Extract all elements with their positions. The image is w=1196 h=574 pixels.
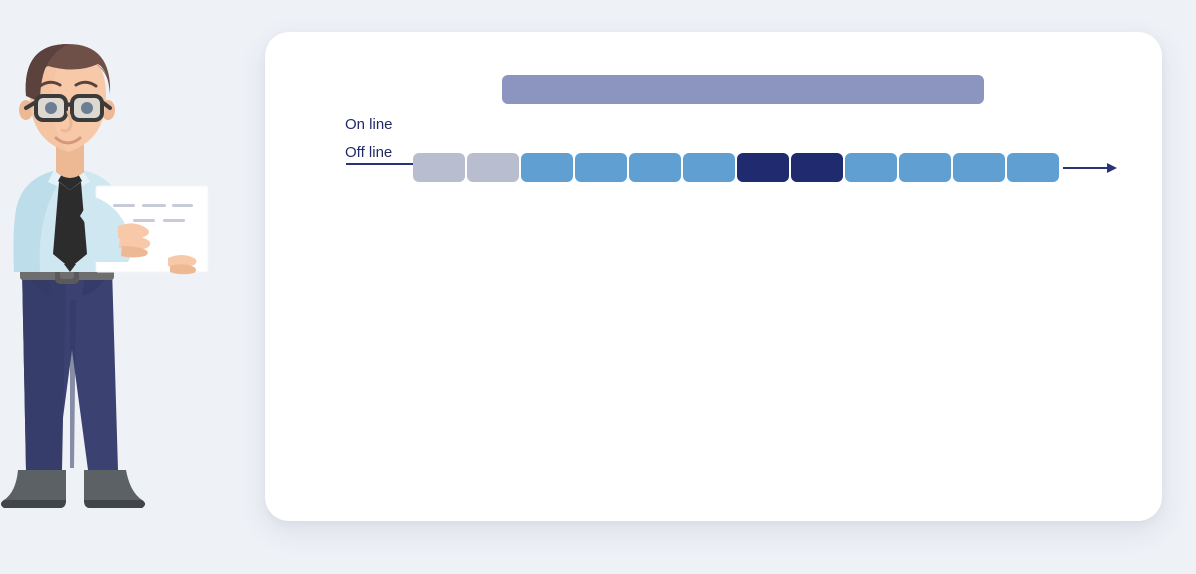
timeline-axis-divider (346, 163, 414, 165)
off-line-label: Off line (345, 145, 392, 160)
character-shoes (1, 470, 145, 508)
character-shirt (14, 166, 127, 272)
timeline-block-offline[interactable] (737, 153, 789, 182)
timeline-block-online[interactable] (575, 153, 627, 182)
character-left-arm (14, 200, 42, 266)
held-paper (96, 186, 208, 272)
timeline-block-idle[interactable] (413, 153, 465, 182)
glasses-icon (26, 96, 110, 120)
timeline-block-online[interactable] (629, 153, 681, 182)
timeline-axis-labels: On line Off line (341, 117, 409, 169)
title-placeholder-bar (502, 75, 984, 104)
timeline-block-offline[interactable] (791, 153, 843, 182)
timeline-block-online[interactable] (953, 153, 1005, 182)
content-card: On line Off line (265, 32, 1162, 521)
timeline-block-online[interactable] (899, 153, 951, 182)
timeline-block-online[interactable] (1007, 153, 1059, 182)
timeline-arrow (1063, 161, 1119, 175)
online-offline-timeline: On line Off line (341, 117, 1151, 177)
timeline-block-row (413, 153, 1059, 182)
character-right-arm (80, 196, 197, 274)
character-tie (53, 172, 87, 268)
on-line-label: On line (345, 117, 393, 132)
character-belt (20, 263, 114, 284)
character-head (19, 44, 115, 152)
character-neck (56, 140, 84, 178)
timeline-block-online[interactable] (683, 153, 735, 182)
timeline-block-online[interactable] (845, 153, 897, 182)
timeline-block-idle[interactable] (467, 153, 519, 182)
teacher-illustration (0, 0, 260, 574)
timeline-block-online[interactable] (521, 153, 573, 182)
character-pants (22, 268, 118, 470)
